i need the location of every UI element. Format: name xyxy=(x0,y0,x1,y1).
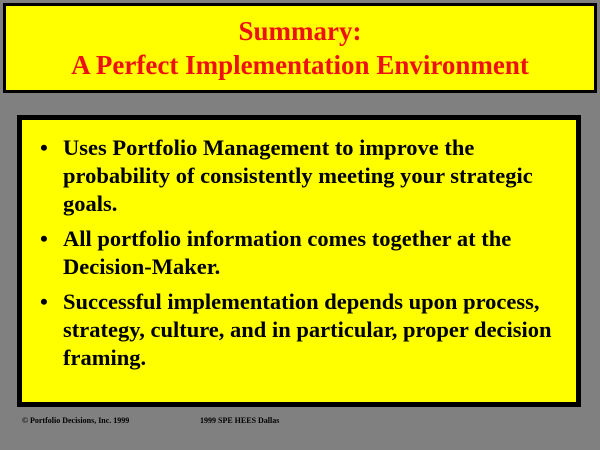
slide-footer: © Portfolio Decisions, Inc. 1999 1999 SP… xyxy=(22,414,562,428)
list-item-text: Uses Portfolio Management to improve the… xyxy=(63,134,566,218)
slide-content-box: • Uses Portfolio Management to improve t… xyxy=(17,115,581,407)
bullet-point-icon: • xyxy=(40,288,56,316)
bullet-point-icon: • xyxy=(40,225,56,253)
list-item-text: All portfolio information comes together… xyxy=(63,225,566,281)
slide-title-box: Summary: A Perfect Implementation Enviro… xyxy=(3,3,597,93)
slide-title-line-2: A Perfect Implementation Environment xyxy=(71,48,529,82)
footer-copyright: © Portfolio Decisions, Inc. 1999 xyxy=(22,414,129,428)
footer-event: 1999 SPE HEES Dallas xyxy=(200,414,279,428)
list-item-text: Successful implementation depends upon p… xyxy=(63,288,566,372)
list-item: • All portfolio information comes togeth… xyxy=(36,225,566,281)
bullet-point-icon: • xyxy=(40,134,56,162)
presentation-slide: Summary: A Perfect Implementation Enviro… xyxy=(0,0,600,450)
list-item: • Uses Portfolio Management to improve t… xyxy=(36,134,566,218)
list-item: • Successful implementation depends upon… xyxy=(36,288,566,372)
slide-title-line-1: Summary: xyxy=(239,14,362,48)
bullet-list: • Uses Portfolio Management to improve t… xyxy=(22,120,576,372)
